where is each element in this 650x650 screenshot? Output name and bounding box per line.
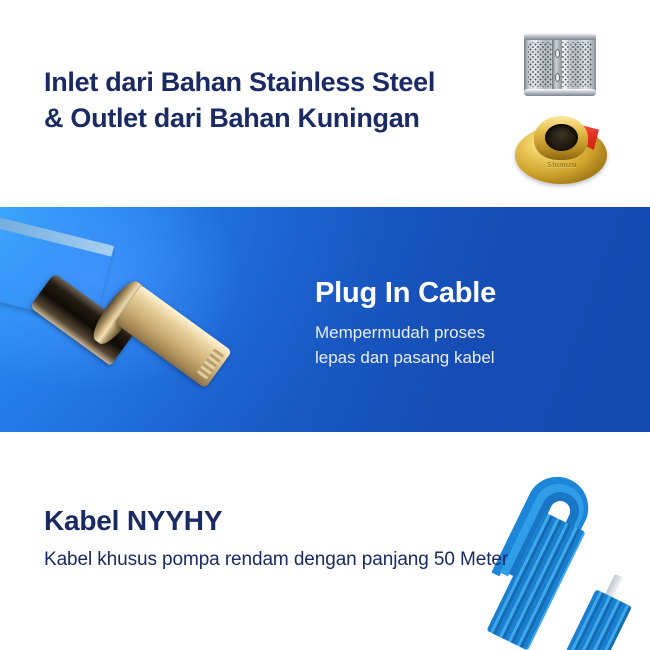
- cable-strand-bundle: [486, 512, 585, 650]
- cable-tail-bundle: [565, 589, 632, 650]
- strainer-ring-top: [524, 33, 596, 40]
- cable-heading: Kabel NYYHY: [44, 505, 222, 537]
- plug-connector-icon: [0, 225, 240, 425]
- strainer-rib-right: [568, 33, 572, 96]
- strainer-hole-upper: [555, 49, 560, 58]
- plug-in-cable-title: Plug In Cable: [315, 277, 496, 310]
- cable-subtitle: Kabel khusus pompa rendam dengan panjang…: [44, 549, 508, 571]
- stainless-steel-strainer-icon: [524, 33, 596, 96]
- inlet-outlet-heading: Inlet dari Bahan Stainless Steel & Outle…: [44, 64, 514, 136]
- strainer-rib-left: [552, 33, 562, 96]
- plug-connector-tip: [114, 285, 232, 388]
- brass-brand-label: Shimizu: [537, 162, 587, 169]
- coiled-blue-cable-icon: [490, 470, 650, 650]
- brass-outlet-fitting-icon: Shimizu: [515, 112, 607, 188]
- plug-contact-pins: [197, 348, 224, 379]
- brass-bore-opening: [545, 124, 578, 151]
- inlet-outlet-section: Inlet dari Bahan Stainless Steel & Outle…: [0, 0, 650, 207]
- strainer-ring-bottom: [524, 89, 596, 96]
- plug-in-cable-subtitle: Mempermudah proses lepas dan pasang kabe…: [315, 320, 575, 370]
- product-feature-infographic: Inlet dari Bahan Stainless Steel & Outle…: [0, 0, 650, 650]
- strainer-hole-lower: [555, 73, 560, 82]
